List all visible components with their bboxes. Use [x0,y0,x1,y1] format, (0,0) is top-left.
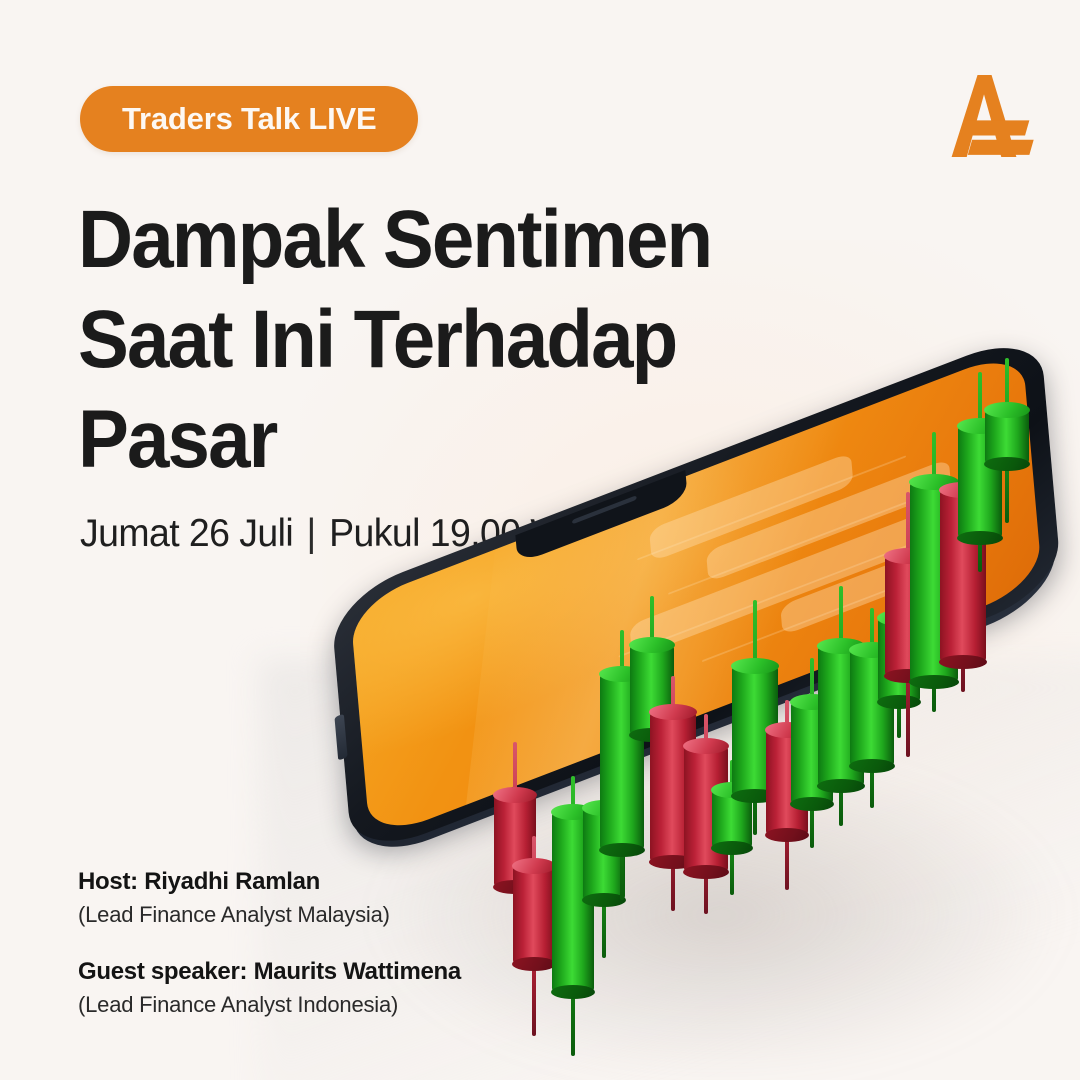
credit-role: (Lead Finance Analyst Malaysia) [78,899,548,931]
speaker-credits: Host: Riyadhi Ramlan (Lead Finance Analy… [78,865,548,1021]
credit-guest-speaker: Guest speaker: Maurits Wattimena (Lead F… [78,955,548,1021]
schedule-date: Jumat 26 Juli [80,512,293,556]
schedule-separator: | [307,512,316,556]
credit-role: (Lead Finance Analyst Indonesia) [78,989,548,1021]
live-badge-label: Traders Talk LIVE [122,101,376,137]
promo-canvas: Traders Talk LIVE Dampak Sentimen Saat I… [0,0,1080,1080]
live-badge[interactable]: Traders Talk LIVE [80,86,418,152]
headline-line-1: Dampak Sentimen [78,190,785,290]
credit-host: Host: Riyadhi Ramlan (Lead Finance Analy… [78,865,548,931]
page-title: Dampak Sentimen Saat Ini Terhadap Pasar [78,190,785,490]
ascendex-a-logo-icon [930,62,1038,170]
credit-name: Host: Riyadhi Ramlan [78,865,548,899]
headline-line-2: Saat Ini Terhadap [78,290,785,390]
credit-name: Guest speaker: Maurits Wattimena [78,955,548,989]
